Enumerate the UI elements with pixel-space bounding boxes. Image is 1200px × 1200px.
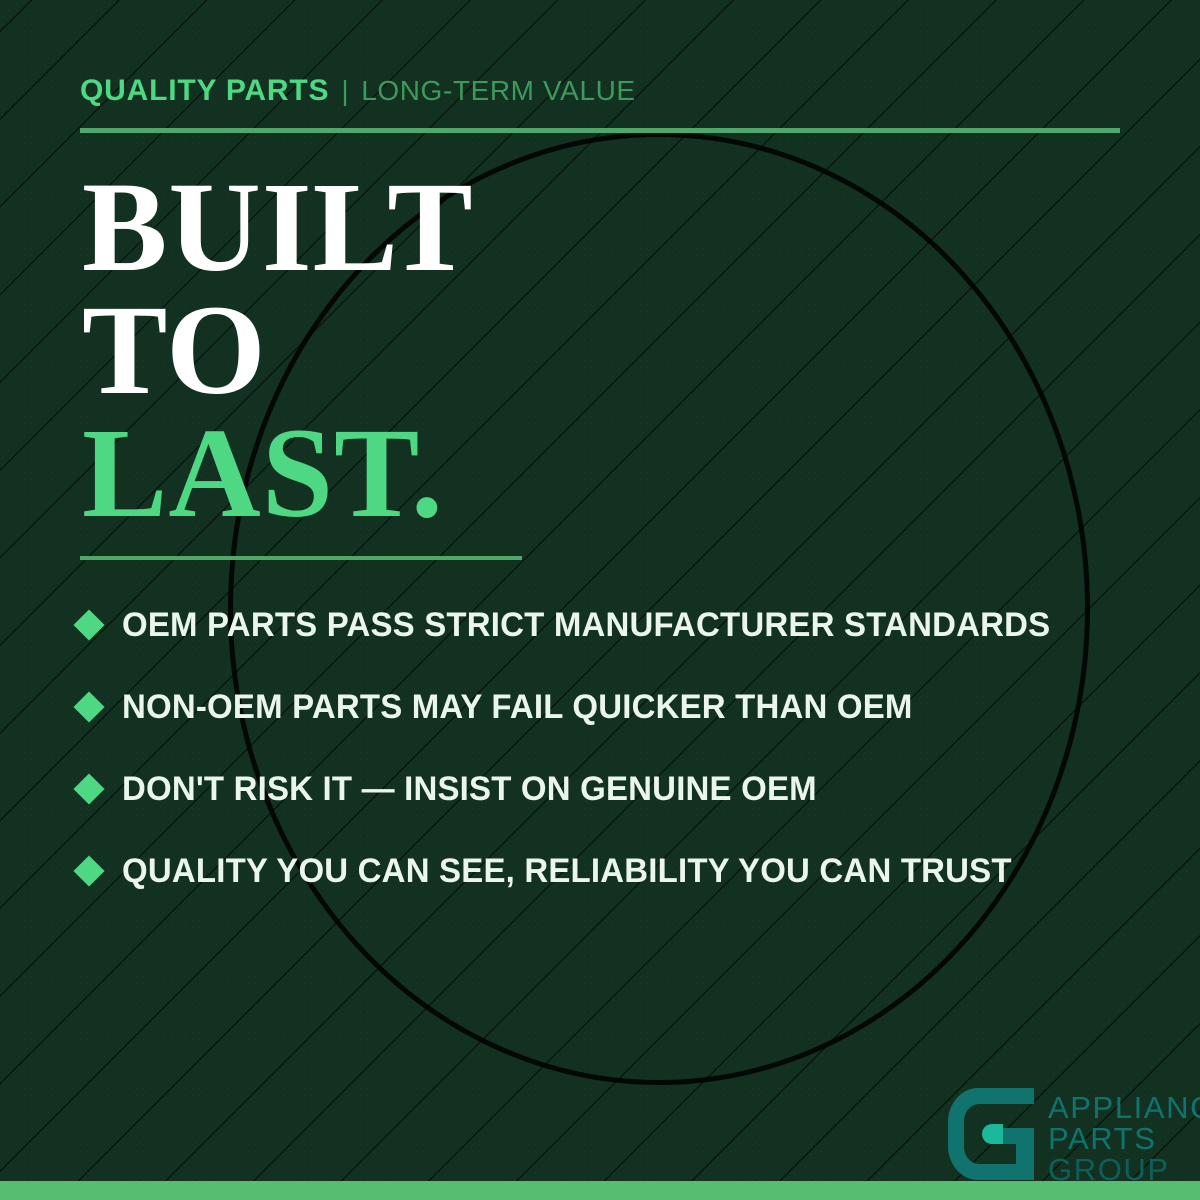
benefits-list: OEM PARTS PASS STRICT MANUFACTURER STAND… — [78, 584, 1168, 912]
headline-divider — [80, 556, 522, 560]
brand-logo-wordmark: APPLIANCE PARTS GROUP — [1048, 1088, 1200, 1185]
list-item: NON-OEM PARTS MAY FAIL QUICKER THAN OEM — [78, 666, 1168, 748]
diamond-bullet-icon — [73, 609, 104, 640]
brand-logo: APPLIANCE PARTS GROUP — [948, 1088, 1200, 1185]
diamond-bullet-icon — [73, 773, 104, 804]
eyebrow: QUALITY PARTS | LONG-TERM VALUE — [80, 74, 636, 108]
list-item-label: QUALITY YOU CAN SEE, RELIABILITY YOU CAN… — [122, 852, 1012, 891]
eyebrow-separator: | — [341, 75, 349, 107]
list-item: OEM PARTS PASS STRICT MANUFACTURER STAND… — [78, 584, 1168, 666]
promo-poster: QUALITY PARTS | LONG-TERM VALUE BUILT TO… — [0, 0, 1200, 1200]
list-item: QUALITY YOU CAN SEE, RELIABILITY YOU CAN… — [78, 830, 1168, 912]
brand-word-appliance: APPLIANCE — [1048, 1092, 1200, 1123]
list-item-label: OEM PARTS PASS STRICT MANUFACTURER STAND… — [122, 606, 1050, 645]
headline-line-3: LAST. — [82, 412, 474, 535]
headline: BUILT TO LAST. — [82, 166, 474, 535]
eyebrow-sub-label: LONG-TERM VALUE — [361, 75, 636, 107]
headline-line-2: TO — [82, 289, 474, 412]
g-monogram-icon — [948, 1088, 1034, 1180]
diamond-bullet-icon — [73, 855, 104, 886]
headline-line-1: BUILT — [82, 166, 474, 289]
list-item-label: NON-OEM PARTS MAY FAIL QUICKER THAN OEM — [122, 688, 913, 727]
list-item-label: DON'T RISK IT — INSIST ON GENUINE OEM — [122, 770, 817, 809]
diamond-bullet-icon — [73, 691, 104, 722]
header-divider — [80, 128, 1120, 133]
bottom-accent-bar — [0, 1181, 1200, 1200]
list-item: DON'T RISK IT — INSIST ON GENUINE OEM — [78, 748, 1168, 830]
brand-word-parts: PARTS — [1048, 1123, 1200, 1154]
eyebrow-main-label: QUALITY PARTS — [80, 74, 329, 108]
